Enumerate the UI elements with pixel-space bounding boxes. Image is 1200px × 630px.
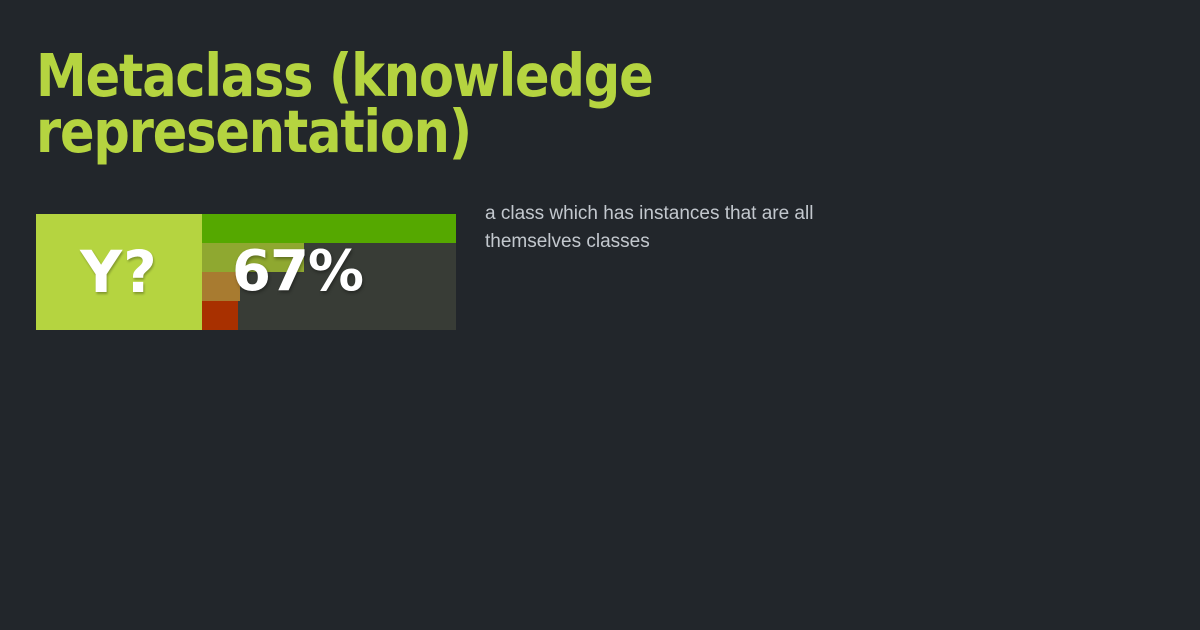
badge-left-label: Y? <box>80 243 158 301</box>
page-title: Metaclass (knowledge representation) <box>36 48 833 160</box>
bar-segment-4 <box>202 301 238 330</box>
badge-left-panel: Y? <box>36 214 202 330</box>
description-text: a class which has instances that are all… <box>485 200 885 256</box>
score-badge[interactable]: Y? 67% <box>36 214 456 330</box>
badge-chart-panel: 67% <box>202 214 456 330</box>
page-root: Metaclass (knowledge representation) Y? … <box>0 0 1200 630</box>
percent-label: 67% <box>232 244 363 300</box>
